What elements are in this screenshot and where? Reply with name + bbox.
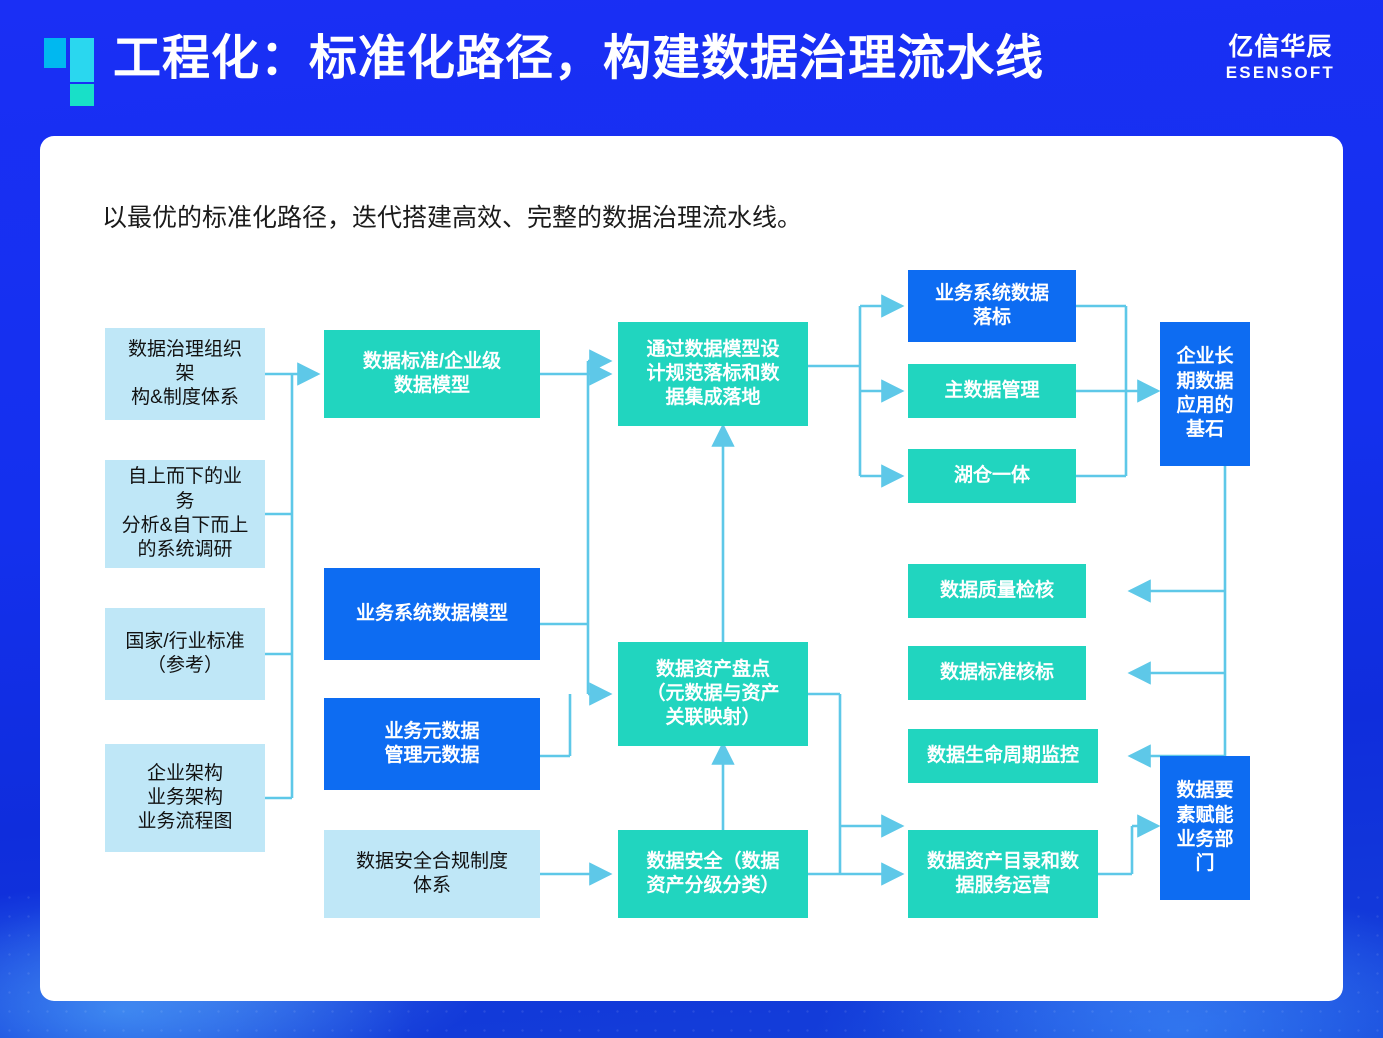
node-line: （元数据与资产 [638, 682, 787, 706]
node-line: 基石 [1168, 418, 1241, 442]
content-card: 以最优的标准化路径，迭代搭建高效、完整的数据治理流水线。 [40, 136, 1343, 1001]
node-lakehouse[interactable]: 湖仓一体 [908, 449, 1076, 503]
node-line: 应用的 [1168, 394, 1241, 418]
node-topdown-analysis[interactable]: 自上而下的业务 分析&自下而上 的系统调研 [105, 460, 265, 568]
node-business-metadata[interactable]: 业务元数据 管理元数据 [324, 698, 540, 790]
node-line: 数据资产盘点 [638, 658, 787, 682]
slide-header: 工程化：标准化路径，构建数据治理流水线 亿信华辰 ESENSOFT [0, 0, 1383, 118]
node-line: 数据安全（数据 [638, 850, 787, 874]
governance-pipeline-diagram: 数据治理组织架 构&制度体系 自上而下的业务 分析&自下而上 的系统调研 国家/… [40, 136, 1343, 1001]
node-model-design-landing[interactable]: 通过数据模型设 计规范落标和数 据集成落地 [618, 322, 808, 426]
node-line: 构&制度体系 [113, 386, 257, 410]
node-line: 通过数据模型设 [638, 338, 787, 362]
node-master-data-management[interactable]: 主数据管理 [908, 364, 1076, 418]
brand-logo: 亿信华辰 ESENSOFT [1226, 34, 1335, 83]
node-line: 素赋能 [1168, 804, 1241, 828]
node-data-quality-check[interactable]: 数据质量检核 [908, 564, 1086, 618]
node-line: 自上而下的业务 [113, 465, 257, 514]
node-national-standards[interactable]: 国家/行业标准 （参考） [105, 608, 265, 700]
node-line: 门 [1168, 852, 1241, 876]
node-lifecycle-monitoring[interactable]: 数据生命周期监控 [908, 729, 1098, 783]
node-line: 数据标准核标 [932, 661, 1062, 685]
node-line: 主数据管理 [936, 379, 1047, 403]
node-empower-business-dept[interactable]: 数据要 素赋能 业务部 门 [1160, 756, 1250, 900]
node-line: 湖仓一体 [946, 464, 1038, 488]
node-line: （参考） [117, 654, 252, 678]
node-security-compliance[interactable]: 数据安全合规制度 体系 [324, 830, 540, 918]
node-line: 期数据 [1168, 370, 1241, 394]
node-line: 企业长 [1168, 345, 1241, 369]
node-system-data-labeling[interactable]: 业务系统数据 落标 [908, 270, 1076, 342]
node-line: 业务流程图 [129, 810, 240, 834]
node-line: 业务系统数据模型 [348, 602, 516, 626]
node-line: 计规范落标和数 [638, 362, 787, 386]
node-enterprise-architecture[interactable]: 企业架构 业务架构 业务流程图 [105, 744, 265, 852]
slide-root: 工程化：标准化路径，构建数据治理流水线 亿信华辰 ESENSOFT 以最优的标准… [0, 0, 1383, 1038]
brand-name-en: ESENSOFT [1226, 63, 1335, 83]
page-title: 工程化：标准化路径，构建数据治理流水线 [113, 30, 1044, 88]
node-line: 数据质量检核 [932, 579, 1062, 603]
node-line: 关联映射） [638, 706, 787, 730]
node-line: 国家/行业标准 [117, 630, 252, 654]
node-line: 体系 [348, 874, 516, 898]
node-line: 数据要 [1168, 779, 1241, 803]
node-line: 企业架构 [129, 762, 240, 786]
node-line: 数据资产目录和数 [919, 850, 1087, 874]
node-line: 业务元数据 [376, 720, 487, 744]
node-governance-org[interactable]: 数据治理组织架 构&制度体系 [105, 328, 265, 420]
logo-mark-icon [44, 38, 100, 94]
node-line: 资产分级分类） [638, 874, 787, 898]
node-line: 数据治理组织架 [113, 338, 257, 387]
node-asset-inventory[interactable]: 数据资产盘点 （元数据与资产 关联映射） [618, 642, 808, 746]
node-data-security-classification[interactable]: 数据安全（数据 资产分级分类） [618, 830, 808, 918]
node-data-standard-model[interactable]: 数据标准/企业级 数据模型 [324, 330, 540, 418]
node-line: 业务系统数据 [927, 282, 1057, 306]
node-line: 业务部 [1168, 828, 1241, 852]
node-line: 据服务运营 [919, 874, 1087, 898]
node-standard-verification[interactable]: 数据标准核标 [908, 646, 1086, 700]
node-long-term-foundation[interactable]: 企业长 期数据 应用的 基石 [1160, 322, 1250, 466]
node-line: 数据安全合规制度 [348, 850, 516, 874]
node-line: 落标 [927, 306, 1057, 330]
brand-name-cn: 亿信华辰 [1226, 34, 1335, 60]
node-line: 分析&自下而上 [113, 514, 257, 538]
node-asset-catalog-service[interactable]: 数据资产目录和数 据服务运营 [908, 830, 1098, 918]
node-line: 据集成落地 [638, 386, 787, 410]
node-line: 数据标准/企业级 [355, 350, 509, 374]
node-business-system-model[interactable]: 业务系统数据模型 [324, 568, 540, 660]
node-line: 业务架构 [129, 786, 240, 810]
node-line: 管理元数据 [376, 744, 487, 768]
node-line: 数据模型 [355, 374, 509, 398]
node-line: 数据生命周期监控 [919, 744, 1087, 768]
node-line: 的系统调研 [113, 538, 257, 562]
